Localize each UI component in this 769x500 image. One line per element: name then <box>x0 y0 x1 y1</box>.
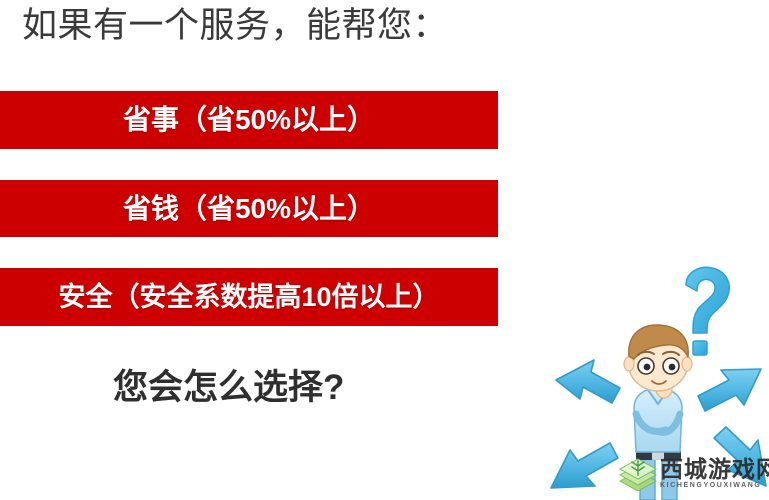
closing-question: 您会怎么选择? <box>113 364 344 412</box>
banner-label: 安全（安全系数提高10倍以上） <box>58 284 439 311</box>
page-title: 如果有一个服务，能帮您： <box>22 4 448 48</box>
watermark-pinyin: KICHENGYOUXIWANG <box>660 481 769 491</box>
watermark-site-name: 西城游戏网 <box>660 457 769 481</box>
arrow-up-right-icon <box>698 369 761 411</box>
question-mark-icon <box>686 267 729 355</box>
banner-safety: 安全（安全系数提高10倍以上） <box>0 268 498 326</box>
layered-book-logo-icon <box>618 457 658 491</box>
arrow-down-left-icon <box>551 443 618 488</box>
slide-canvas: 如果有一个服务，能帮您： 省事（省50%以上） 省钱（省50%以上） 安全（安全… <box>0 0 769 500</box>
arrow-up-left-icon <box>556 360 620 403</box>
banner-money-saving: 省钱（省50%以上） <box>0 180 498 237</box>
banner-label: 省钱（省50%以上） <box>123 195 375 223</box>
banner-time-saving: 省事（省50%以上） <box>0 91 498 149</box>
watermark: 西城游戏网 KICHENGYOUXIWANG <box>618 452 766 496</box>
banner-label: 省事（省50%以上） <box>123 106 375 134</box>
